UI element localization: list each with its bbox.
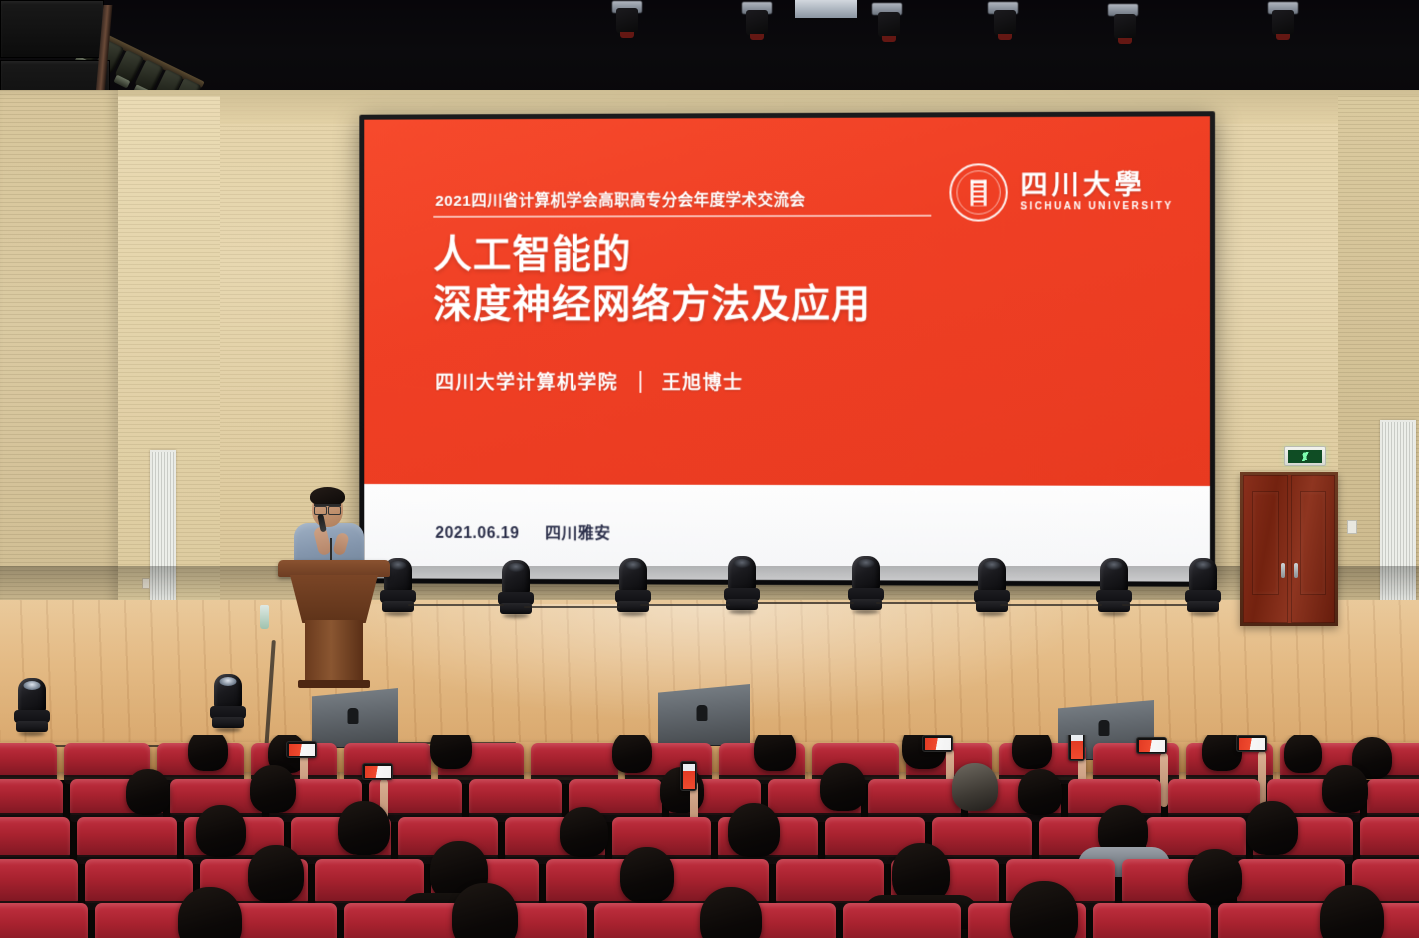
power-cable: [1000, 604, 1102, 606]
lectern: [278, 560, 390, 684]
auditorium-scene: 2021四川省计算机学会高职高专分会年度学术交流会 人工智能的 深度神经网络方法…: [0, 0, 1419, 938]
seat[interactable]: [932, 817, 1032, 857]
slide-location: 四川雅安: [545, 519, 611, 543]
audience-head: [1188, 849, 1242, 905]
power-cable: [876, 602, 980, 604]
slide-title: 人工智能的 深度神经网络方法及应用: [433, 230, 871, 329]
slide-title-line-2: 深度神经网络方法及应用: [433, 279, 871, 329]
audience-head: [754, 735, 796, 771]
audience-head: [1284, 735, 1322, 773]
ceiling-light-icon: [746, 10, 768, 36]
running-man-icon: [1302, 452, 1309, 461]
slide-footer: 2021.06.19 四川雅安: [435, 519, 610, 543]
audience-head: [452, 883, 518, 938]
slide-presenter-name: 王旭博士: [662, 368, 744, 395]
audience-head: [196, 805, 246, 857]
slide-date: 2021.06.19: [435, 525, 519, 543]
seat[interactable]: [1367, 779, 1419, 815]
smartphone[interactable]: [922, 735, 953, 752]
audience-head: [250, 765, 296, 813]
water-bottle: [260, 605, 269, 629]
seat[interactable]: [868, 779, 961, 815]
slide-affiliation: 四川大学计算机学院: [435, 368, 618, 395]
smartphone[interactable]: [286, 741, 317, 758]
moving-head-light: [1183, 556, 1223, 612]
seat[interactable]: [0, 779, 63, 815]
moving-head-light-floor: [208, 672, 248, 728]
seat[interactable]: [1218, 903, 1336, 938]
emergency-exit-sign: [1284, 446, 1326, 466]
slide-kicker-text: 2021四川省计算机学会高职高专分会年度学术交流会: [435, 188, 805, 211]
ceiling-monitor: [795, 0, 857, 18]
audience-head: [338, 801, 390, 855]
power-cable: [640, 604, 730, 606]
slide-divider-rule: [433, 215, 931, 218]
audience-head: [1246, 801, 1298, 855]
presentation-screen: 2021四川省计算机学会高职高专分会年度学术交流会 人工智能的 深度神经网络方法…: [359, 111, 1215, 587]
audience-head: [728, 803, 780, 857]
smartphone[interactable]: [1068, 735, 1085, 761]
audience-head: [892, 843, 950, 903]
seat[interactable]: [843, 903, 961, 938]
audience-head: [1320, 885, 1384, 938]
audience-head: [820, 763, 866, 811]
audience-head: [126, 769, 170, 815]
university-seal-icon: [950, 163, 1008, 221]
seat[interactable]: [0, 903, 88, 938]
audience-head: [1018, 769, 1062, 815]
audience-head: [1322, 765, 1368, 813]
smartphone[interactable]: [680, 761, 697, 791]
seat[interactable]: [1168, 779, 1261, 815]
seat[interactable]: [469, 779, 562, 815]
power-cable: [408, 604, 504, 606]
seat[interactable]: [0, 859, 78, 903]
ceiling-light-icon: [1114, 14, 1136, 40]
seat[interactable]: [1093, 903, 1211, 938]
seat[interactable]: [1360, 817, 1419, 857]
audience-seating: [0, 735, 1419, 938]
seat[interactable]: [594, 903, 712, 938]
power-cable: [524, 606, 620, 608]
audience-head: [700, 887, 762, 938]
seat[interactable]: [77, 817, 177, 857]
slide-vertical-divider-icon: [639, 370, 641, 392]
door-access-panel[interactable]: [1347, 520, 1357, 534]
moving-head-light-floor: [12, 676, 52, 732]
audience-head: [188, 735, 228, 771]
audience-head: [560, 807, 608, 857]
seat[interactable]: [531, 743, 618, 777]
ceiling-light-icon: [616, 8, 638, 34]
smartphone[interactable]: [1236, 735, 1267, 752]
seat[interactable]: [0, 817, 70, 857]
audience-head: [430, 735, 472, 769]
logo-english-name: SICHUAN UNIVERSITY: [1020, 202, 1173, 212]
audience-head: [612, 735, 652, 773]
slide-title-line-1: 人工智能的: [433, 230, 871, 280]
power-cable: [752, 602, 854, 604]
presenter: [286, 487, 372, 571]
glasses-icon: [314, 504, 341, 511]
audience-head: [1010, 881, 1078, 938]
ceiling-light-icon: [1272, 10, 1294, 36]
seat[interactable]: [344, 903, 462, 938]
sichuan-university-logo: 四川大學 SICHUAN UNIVERSITY: [950, 163, 1174, 222]
power-cable: [1122, 604, 1188, 606]
slide-presenter-line: 四川大学计算机学院 王旭博士: [435, 368, 743, 395]
ceiling-light-icon: [878, 12, 900, 38]
auditorium-door[interactable]: [1240, 472, 1338, 626]
smartphone[interactable]: [1136, 737, 1167, 754]
audience-head: [1012, 735, 1052, 769]
seat[interactable]: [776, 859, 884, 903]
seat[interactable]: [85, 859, 193, 903]
smartphone[interactable]: [362, 763, 393, 780]
ceiling-light-icon: [994, 10, 1016, 36]
audience-head: [952, 763, 998, 811]
seat[interactable]: [0, 743, 57, 777]
audience-head: [248, 845, 304, 903]
logo-chinese-name: 四川大學: [1020, 172, 1173, 200]
audience-head: [620, 847, 674, 903]
